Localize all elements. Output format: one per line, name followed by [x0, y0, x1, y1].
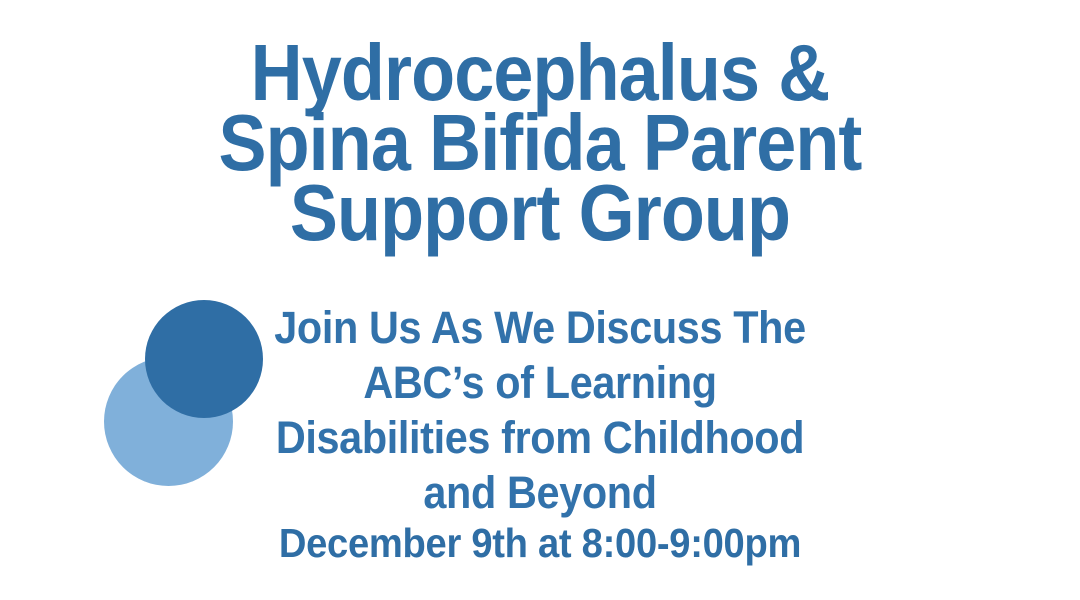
- subtitle-line-4: and Beyond: [43, 465, 1037, 520]
- page-subtitle: Join Us As We Discuss The ABC’s of Learn…: [0, 300, 1080, 520]
- subtitle-line-1: Join Us As We Discuss The: [43, 300, 1037, 355]
- event-datetime-text: December 9th at 8:00-9:00pm: [38, 519, 1042, 567]
- subtitle-line-2: ABC’s of Learning: [43, 355, 1037, 410]
- event-datetime: December 9th at 8:00-9:00pm: [0, 519, 1080, 567]
- subtitle-line-3: Disabilities from Childhood: [43, 410, 1037, 465]
- poster-content: Hydrocephalus & Spina Bifida Parent Supp…: [0, 0, 1080, 600]
- poster-canvas: Hydrocephalus & Spina Bifida Parent Supp…: [0, 0, 1080, 600]
- title-line-3: Support Group: [54, 178, 1026, 248]
- page-title: Hydrocephalus & Spina Bifida Parent Supp…: [0, 38, 1080, 248]
